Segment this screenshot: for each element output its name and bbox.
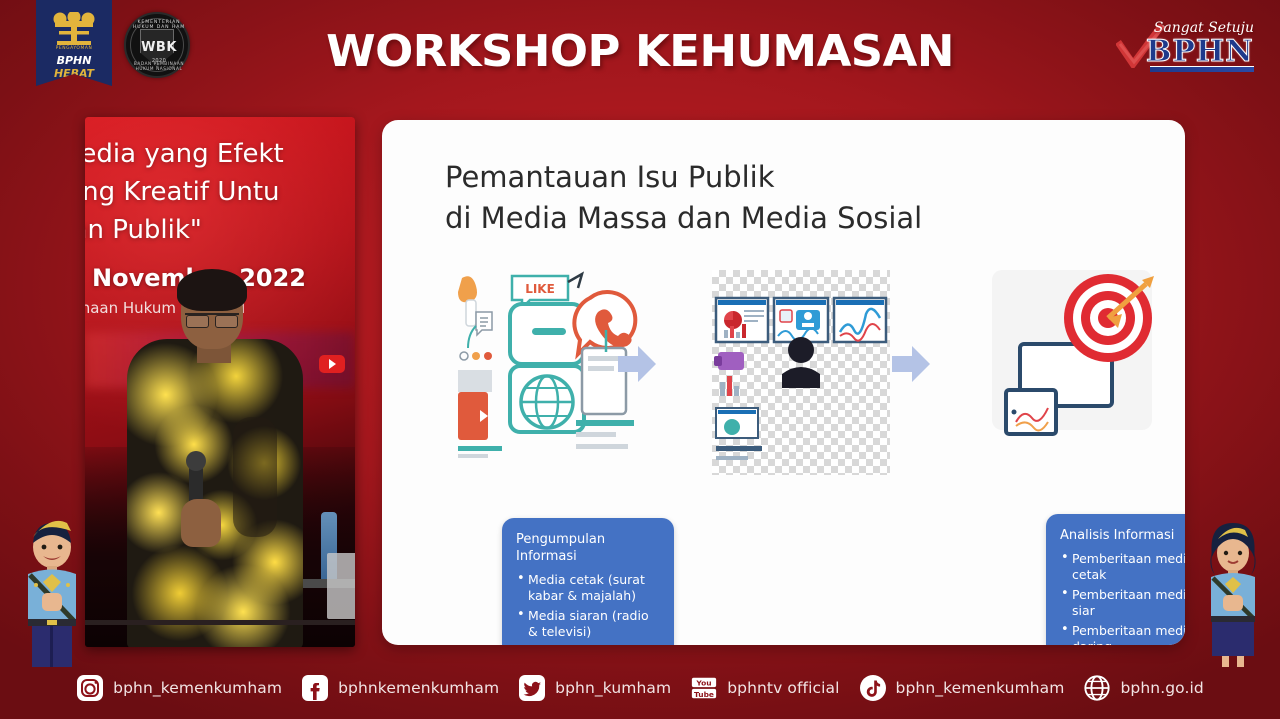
social-item-website[interactable]: bphn.go.id — [1083, 674, 1203, 702]
stage-arrow-2-icon — [890, 344, 932, 384]
backdrop-line-3: cayaan Publik" — [85, 211, 355, 249]
instagram-handle: bphn_kemenkumham — [113, 679, 282, 697]
twitter-icon[interactable] — [518, 674, 546, 702]
presentation-slide-card: Pemantauan Isu Publik di Media Massa dan… — [382, 120, 1185, 645]
speaker-arm — [233, 417, 277, 537]
speaker-hair — [177, 269, 247, 311]
backdrop-line-1: egi Media yang Efekt — [85, 135, 355, 173]
slide-title-line-2: di Media Massa dan Media Sosial — [445, 198, 1145, 239]
speaker-video-feed[interactable]: egi Media yang Efekt im yang Kreatif Unt… — [85, 117, 355, 647]
svg-text:You: You — [696, 679, 712, 688]
list-item: Pemberitaan media siar — [1060, 587, 1185, 619]
slide-title-line-1: Pemantauan Isu Publik — [445, 157, 1145, 198]
facebook-handle: bphnkemenkumham — [338, 679, 499, 697]
slide-title: Pemantauan Isu Publik di Media Massa dan… — [445, 157, 1145, 239]
svg-text:Tube: Tube — [694, 690, 714, 699]
list-item: Pemberitaan media daring — [1060, 623, 1185, 645]
svg-text:LIKE: LIKE — [525, 282, 555, 296]
list-item: Media daring/media online — [516, 644, 660, 645]
stage-1-list: Media cetak (surat kabar & majalah) Medi… — [516, 572, 660, 645]
laptop — [327, 553, 355, 619]
stage-2-info-box: Analisis Informasi Pemberitaan media cet… — [1046, 514, 1185, 645]
list-item: Media siaran (radio & televisi) — [516, 608, 660, 640]
social-media-bar: bphn_kemenkumham bphnkemenkumham bphn_ku… — [0, 657, 1280, 719]
social-item-instagram[interactable]: bphn_kemenkumham — [76, 674, 282, 702]
stage-2-list: Pemberitaan media cetak Pemberitaan medi… — [1060, 551, 1185, 645]
desk-edge — [85, 620, 355, 625]
stage-arrow-1-icon — [616, 344, 658, 384]
monitors-svg — [712, 270, 890, 475]
target-svg — [984, 270, 1169, 450]
logo-brand: BPHN — [1146, 34, 1254, 69]
youtube-icon[interactable]: You Tube — [690, 674, 718, 702]
header-bar: PENGAYOMAN BPHN HEBAT KEMENTERIAN HUKUM … — [0, 0, 1280, 100]
youtube-handle: bphntv official — [727, 679, 839, 697]
sangat-setuju-bphn-logo: Sangat Setuju BPHN — [1112, 14, 1260, 76]
youtube-logo-icon — [319, 355, 345, 373]
stage-1-info-box: Pengumpulan Informasi Media cetak (surat… — [502, 518, 674, 645]
tiktok-icon[interactable] — [859, 674, 887, 702]
social-item-youtube[interactable]: You Tube bphntv official — [690, 674, 839, 702]
tiktok-handle: bphn_kemenkumham — [896, 679, 1065, 697]
logo-strip — [1150, 66, 1254, 72]
social-item-facebook[interactable]: bphnkemenkumham — [301, 674, 499, 702]
globe-icon[interactable] — [1083, 674, 1111, 702]
backdrop-headline: egi Media yang Efekt im yang Kreatif Unt… — [85, 135, 355, 249]
female-officer-mascot — [1198, 517, 1268, 667]
monitors-dashboard-illustration — [712, 270, 890, 475]
website-handle: bphn.go.id — [1120, 679, 1203, 697]
list-item: Media cetak (surat kabar & majalah) — [516, 572, 660, 604]
target-dartboard-illustration — [984, 270, 1169, 450]
instagram-icon[interactable] — [76, 674, 104, 702]
stage-1-heading: Pengumpulan Informasi — [516, 531, 660, 565]
page-title: WORKSHOP KEHUMASAN — [0, 26, 1280, 77]
male-officer-mascot — [14, 517, 90, 667]
twitter-handle: bphn_kumham — [555, 679, 671, 697]
speaker-glasses-icon — [185, 313, 239, 325]
facebook-icon[interactable] — [301, 674, 329, 702]
speaker-hand — [181, 499, 221, 547]
social-item-tiktok[interactable]: bphn_kemenkumham — [859, 674, 1065, 702]
social-item-twitter[interactable]: bphn_kumham — [518, 674, 671, 702]
stage-2-heading: Analisis Informasi — [1060, 527, 1185, 544]
list-item: Pemberitaan media cetak — [1060, 551, 1185, 583]
backdrop-line-2: im yang Kreatif Untu — [85, 173, 355, 211]
slide-stage: PENGAYOMAN BPHN HEBAT KEMENTERIAN HUKUM … — [0, 0, 1280, 719]
